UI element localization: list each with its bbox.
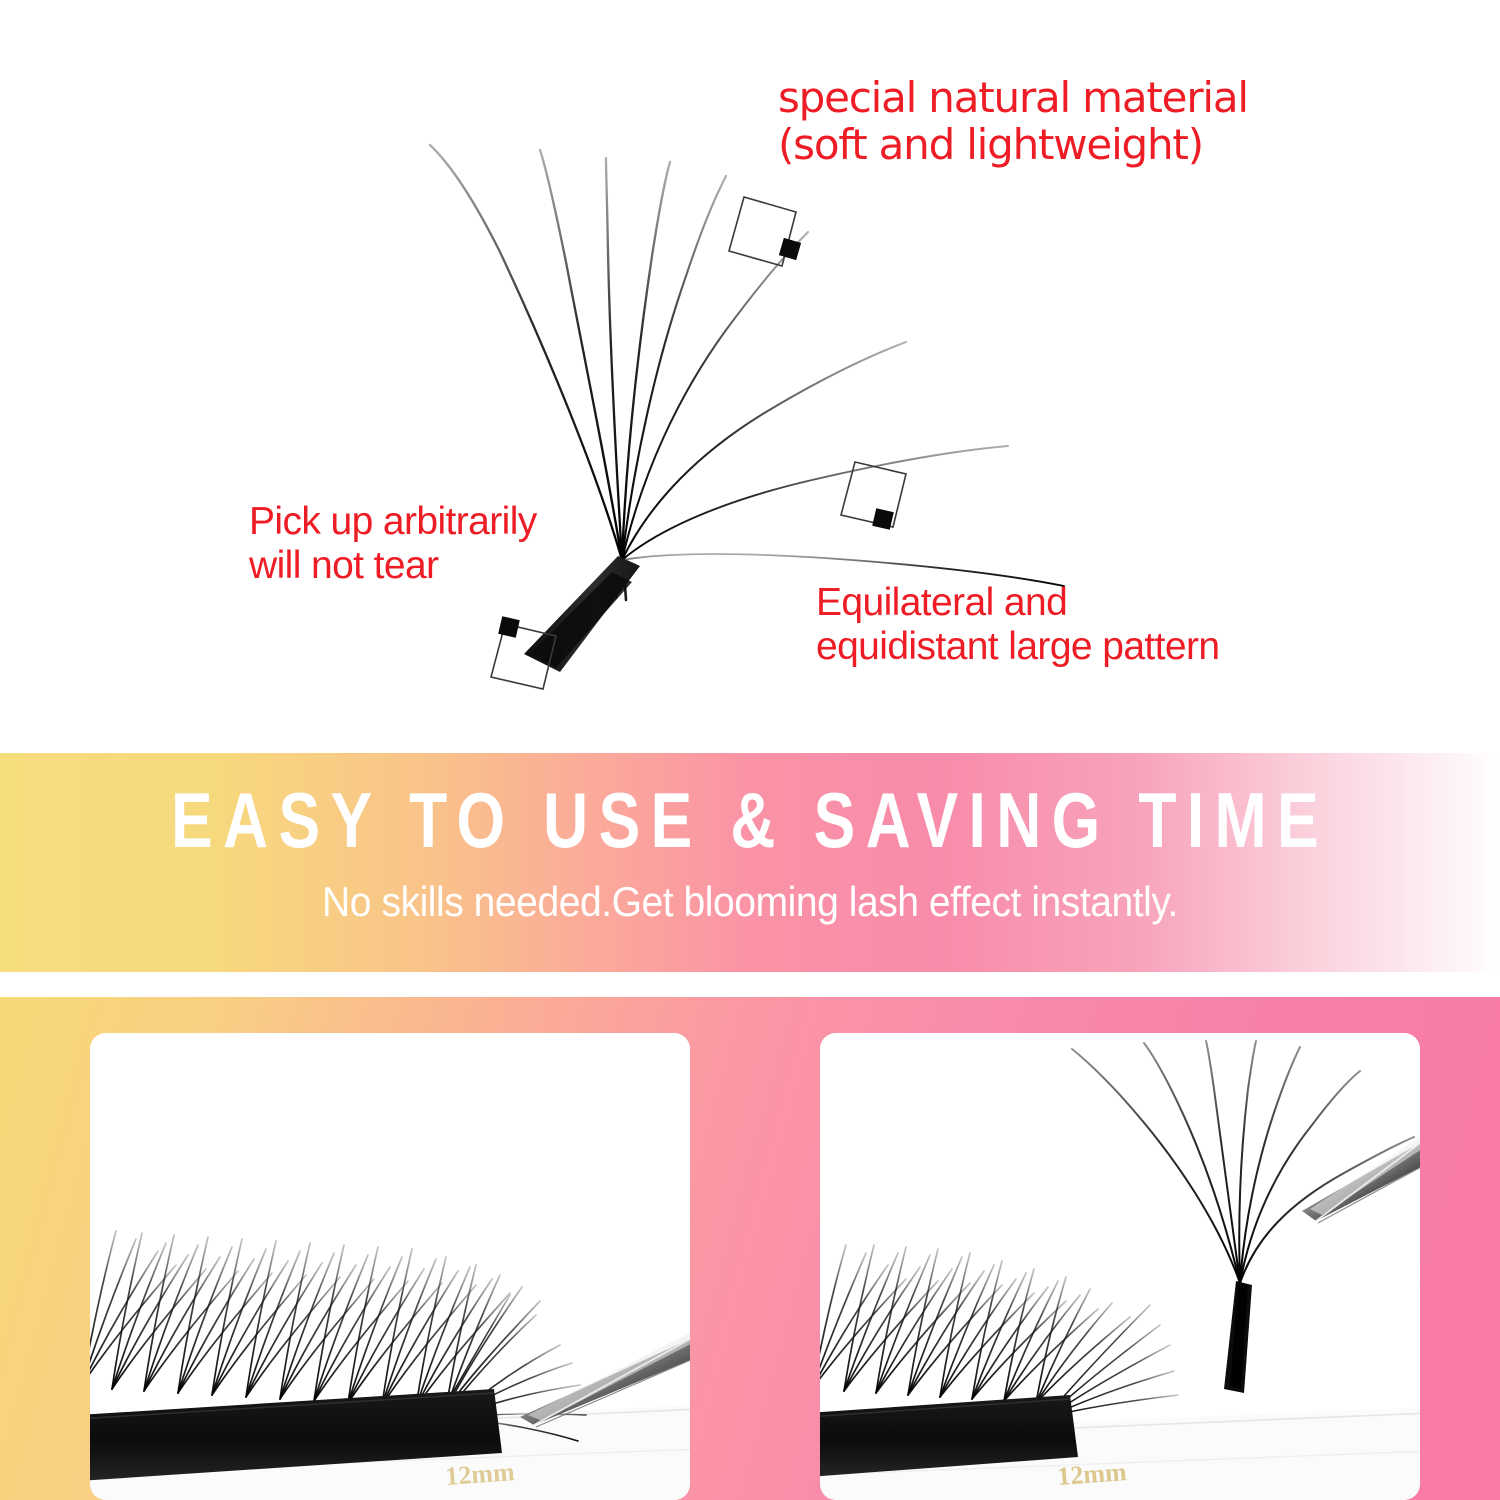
lash-strand (622, 446, 1008, 560)
photo-card-single-fan: 12mm (820, 1033, 1420, 1500)
photo-lash-tray: 12mm (90, 1033, 690, 1500)
product-photos-section: 12mm (0, 997, 1500, 1500)
lash-base-band (524, 556, 640, 672)
callout-special-natural-material: special natural material (soft and light… (778, 74, 1248, 168)
measure-marker-top (729, 197, 801, 266)
photo-single-fan: 12mm (820, 1033, 1420, 1500)
lash-strand (606, 158, 622, 560)
callout-pick-up-arbitrarily: Pick up arbitrarily will not tear (249, 500, 537, 587)
lash-fan-diagram (0, 0, 1500, 753)
lash-strand (622, 342, 906, 560)
banner-title: EASY TO USE & SAVING TIME (150, 775, 1350, 866)
banner-subtitle: No skills needed.Get blooming lash effec… (53, 878, 1448, 926)
lash-strand (540, 150, 622, 560)
photo-card-lash-tray: 12mm (90, 1033, 690, 1500)
tray-size-label: 12mm (444, 1457, 516, 1491)
tray-size-label: 12mm (1056, 1457, 1128, 1491)
feature-diagram-section: special natural material (soft and light… (0, 0, 1500, 753)
callout-equilateral-equidistant: Equilateral and equidistant large patter… (816, 581, 1219, 668)
lash-strand (622, 162, 670, 560)
headline-banner: EASY TO USE & SAVING TIME No skills need… (0, 753, 1500, 972)
lash-strand (430, 145, 622, 560)
lash-strand (622, 232, 808, 560)
